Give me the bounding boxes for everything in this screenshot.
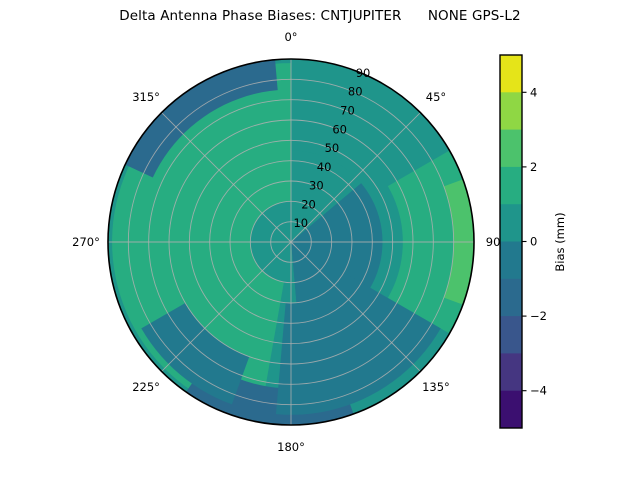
theta-tick-135: 135° [422,380,450,394]
colorbar-tick-label-4: 4 [530,85,537,99]
r-tick-80: 80 [348,85,363,99]
colorbar-tick-label--4: −4 [530,384,547,398]
theta-tick-45: 45° [426,90,446,104]
colorbar-swatch-5 [500,242,522,280]
theta-tick-315: 315° [132,90,160,104]
colorbar-swatch-2 [500,130,522,168]
colorbar-tick-label-2: 2 [530,160,537,174]
colorbar-swatch-4 [500,204,522,242]
figure-canvas: Delta Antenna Phase Biases: CNTJUPITER N… [0,0,640,480]
r-tick-70: 70 [340,104,355,118]
colorbar-swatch-3 [500,167,522,205]
colorbar-swatch-8 [500,353,522,391]
r-tick-60: 60 [332,122,347,136]
theta-tick-0: 0° [284,30,297,44]
colorbar-swatch-6 [500,279,522,317]
theta-tick-225: 225° [132,380,160,394]
r-tick-30: 30 [309,179,324,193]
polar-plot: 0°45°90°135°180°225°270°315° 10203040506… [0,0,640,480]
theta-tick-180: 180° [277,440,305,454]
r-tick-10: 10 [293,216,308,230]
theta-tick-270: 270° [72,235,100,249]
colorbar: 420−2−4 [500,55,547,429]
colorbar-tick-label-0: 0 [530,235,537,249]
r-tick-50: 50 [325,141,340,155]
colorbar-tick-label--2: −2 [530,309,547,323]
colorbar-axis-title: Bias (mm) [553,212,567,271]
r-tick-20: 20 [301,197,316,211]
r-tick-40: 40 [317,160,332,174]
r-tick-90: 90 [356,66,371,80]
colorbar-swatch-1 [500,92,522,130]
colorbar-swatch-9 [500,391,522,429]
colorbar-swatch-7 [500,316,522,354]
colorbar-swatch-0 [500,55,522,93]
polar-grid-layer [108,59,474,425]
